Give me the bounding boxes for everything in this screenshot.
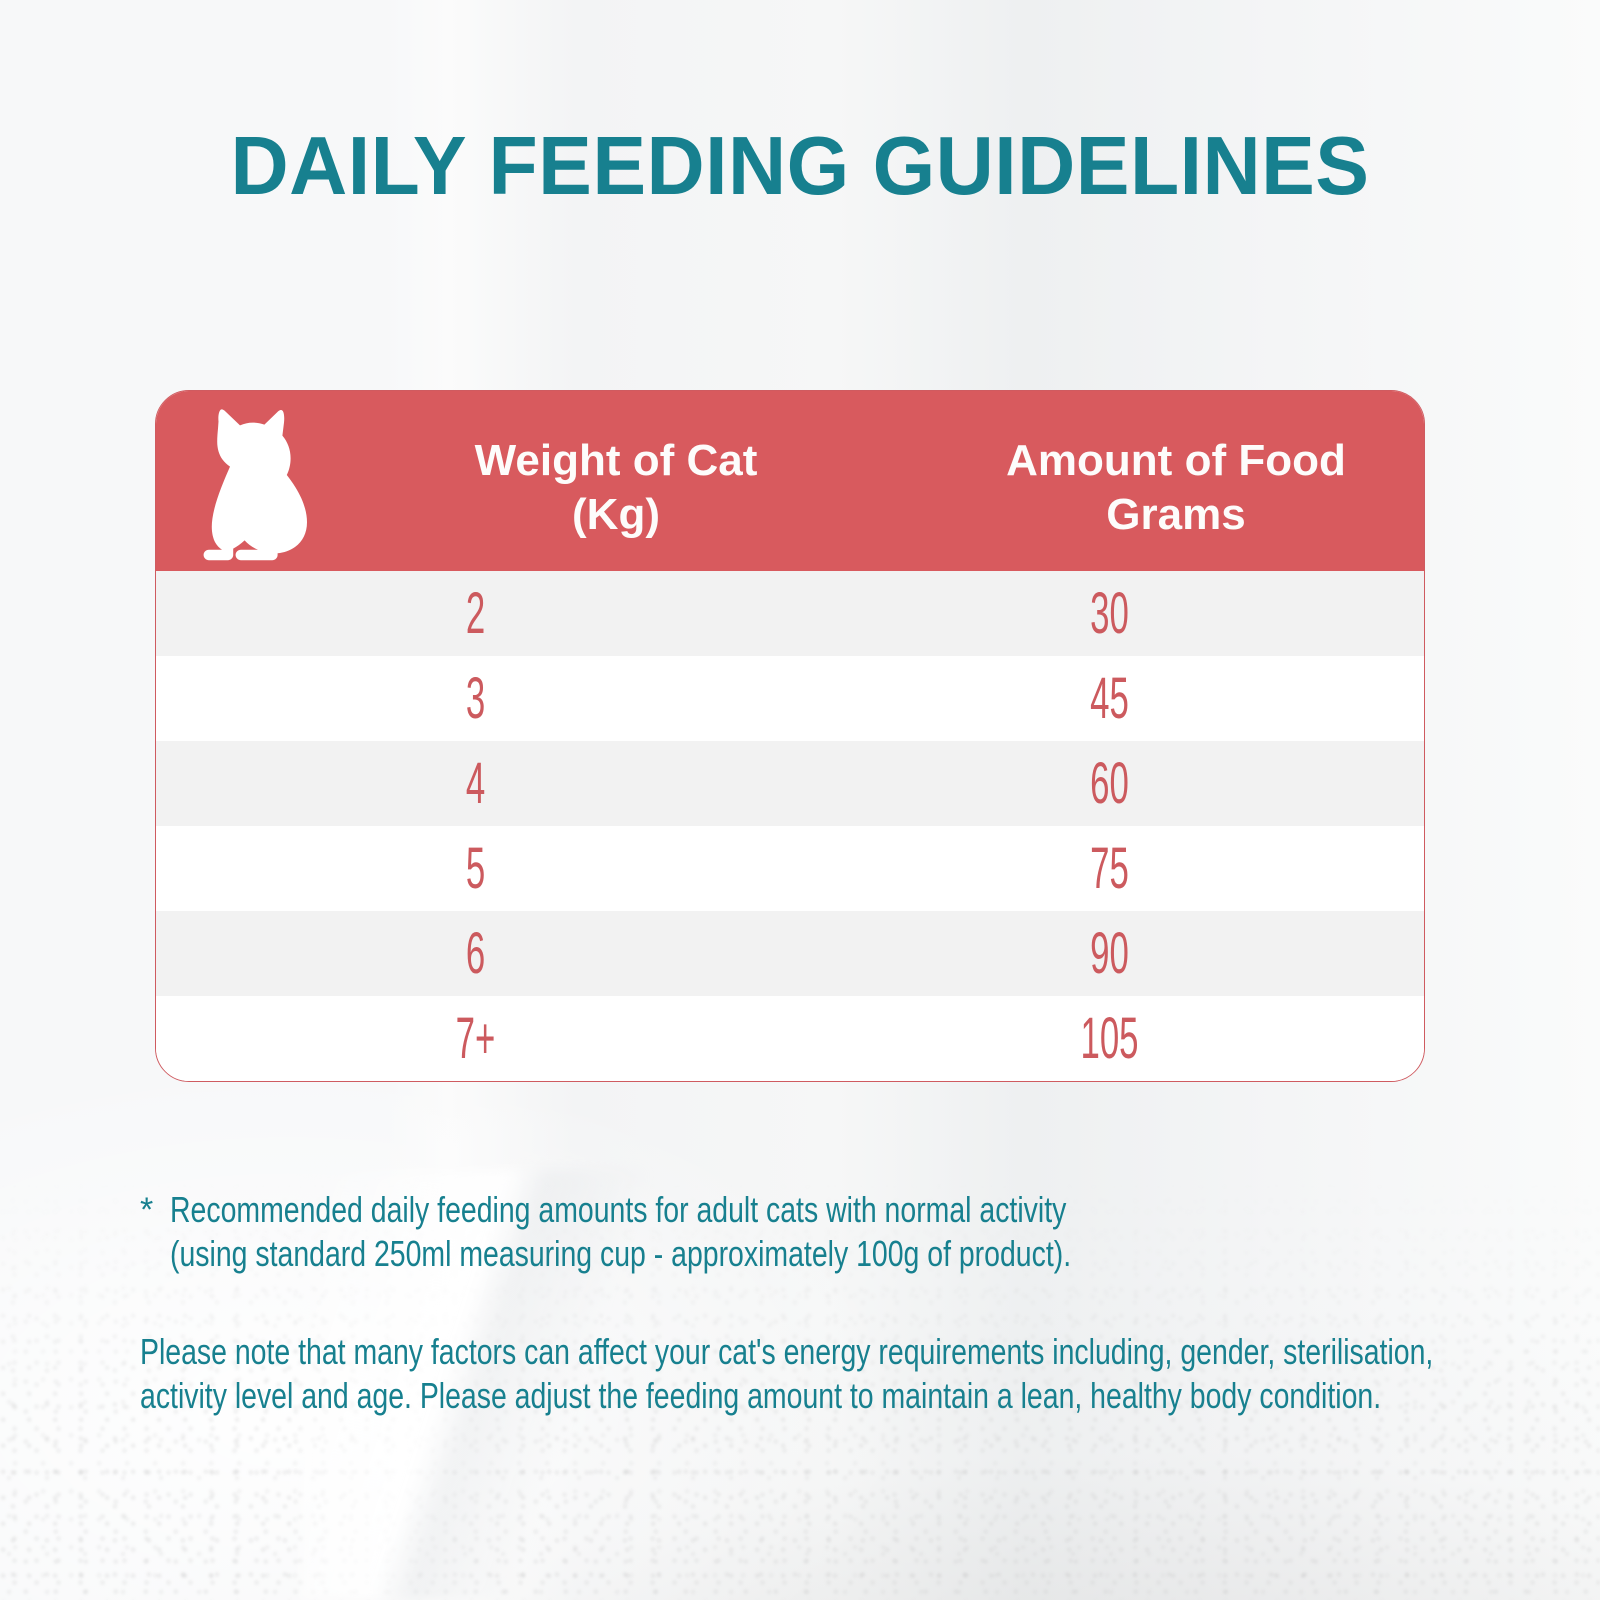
feeding-guidelines-table: Weight of Cat (Kg) Amount of Food Grams … bbox=[155, 390, 1425, 1082]
cell-grams: 30 bbox=[921, 582, 1298, 646]
footnote-paragraph-line-2: activity level and age. Please adjust th… bbox=[140, 1374, 1199, 1418]
footnotes: * Recommended daily feeding amounts for … bbox=[140, 1188, 1480, 1418]
table-row: 2 30 bbox=[156, 571, 1424, 656]
cell-grams: 90 bbox=[921, 922, 1298, 986]
cell-weight: 4 bbox=[284, 752, 667, 816]
table-row: 4 60 bbox=[156, 741, 1424, 826]
column-header-weight-line2: (Kg) bbox=[321, 488, 911, 542]
cell-weight: 5 bbox=[284, 837, 667, 901]
cell-weight: 3 bbox=[284, 667, 667, 731]
footnote-line-1: Recommended daily feeding amounts for ad… bbox=[140, 1188, 1199, 1232]
table-row: 6 90 bbox=[156, 911, 1424, 996]
table-row: 5 75 bbox=[156, 826, 1424, 911]
column-header-weight: Weight of Cat (Kg) bbox=[321, 434, 911, 542]
cat-silhouette-icon bbox=[192, 409, 310, 561]
column-header-amount-line1: Amount of Food bbox=[926, 434, 1425, 488]
column-header-amount: Amount of Food Grams bbox=[926, 434, 1425, 542]
footnote-paragraph: Please note that many factors can affect… bbox=[140, 1330, 1480, 1418]
table-header-row: Weight of Cat (Kg) Amount of Food Grams bbox=[156, 391, 1424, 571]
cell-weight: 2 bbox=[284, 582, 667, 646]
cell-grams: 60 bbox=[921, 752, 1298, 816]
cell-grams: 45 bbox=[921, 667, 1298, 731]
column-header-weight-line1: Weight of Cat bbox=[321, 434, 911, 488]
cell-weight: 6 bbox=[284, 922, 667, 986]
footnote-line-2: (using standard 250ml measuring cup - ap… bbox=[140, 1232, 1199, 1276]
page-title: DAILY FEEDING GUIDELINES bbox=[24, 118, 1576, 214]
table-row: 3 45 bbox=[156, 656, 1424, 741]
cell-grams: 75 bbox=[921, 837, 1298, 901]
cell-weight: 7+ bbox=[284, 1007, 667, 1071]
column-header-amount-line2: Grams bbox=[926, 488, 1425, 542]
table-row: 7+ 105 bbox=[156, 996, 1424, 1081]
cell-grams: 105 bbox=[921, 1007, 1298, 1071]
footnote-paragraph-line-1: Please note that many factors can affect… bbox=[140, 1330, 1199, 1374]
table-body: 2 30 3 45 4 60 5 75 6 90 7+ 105 bbox=[156, 571, 1424, 1081]
footnote-asterisk-block: * Recommended daily feeding amounts for … bbox=[140, 1188, 1480, 1276]
page-root: DAILY FEEDING GUIDELINES Weight of Cat (… bbox=[0, 0, 1600, 1600]
